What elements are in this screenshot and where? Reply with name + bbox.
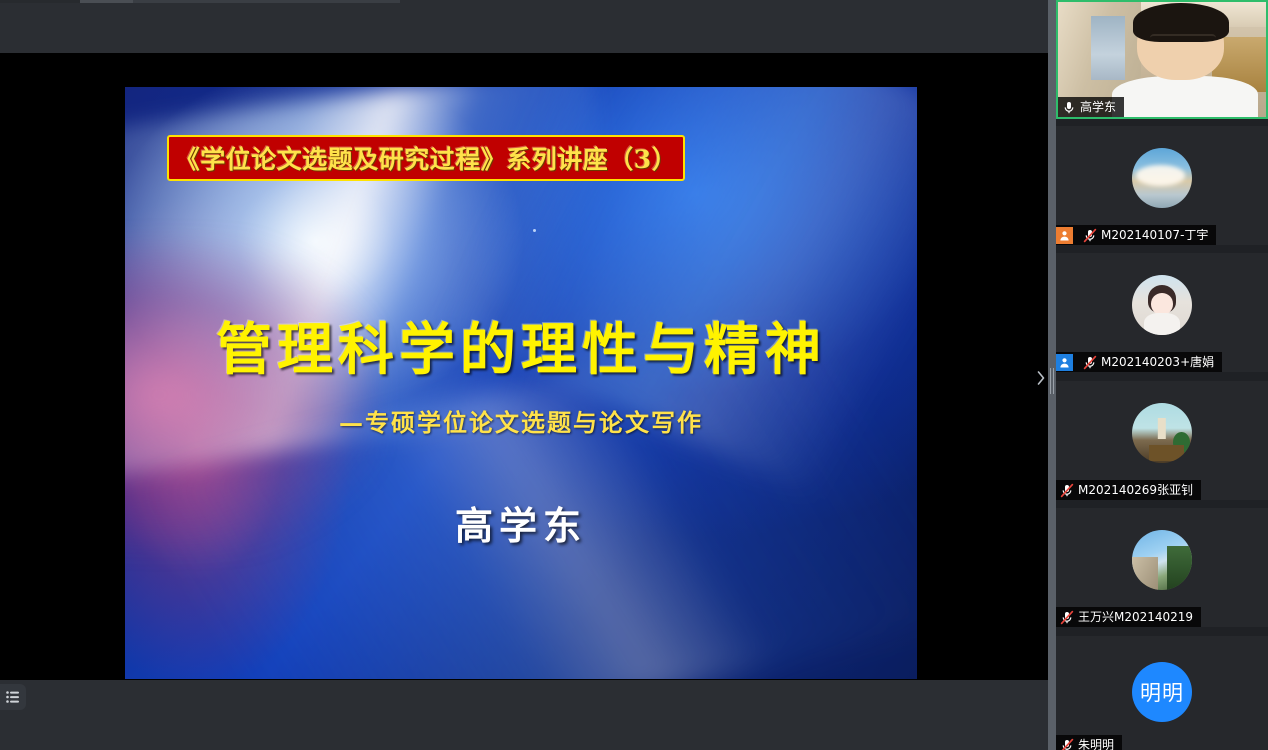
- microphone-on-icon: [1062, 100, 1076, 115]
- participant-name-0: 高学东: [1080, 97, 1116, 117]
- top-strip-segment-right: [133, 0, 400, 3]
- slide-dot: [533, 229, 536, 232]
- presentation-slide: 《学位论文选题及研究过程》系列讲座（3） 管理科学的理性与精神 —专硕学位论文选…: [125, 87, 917, 679]
- participant-tile-5[interactable]: 明明 朱明明: [1056, 636, 1268, 750]
- participant-namebar-0: 高学东: [1058, 97, 1124, 117]
- microphone-muted-icon: [1083, 228, 1097, 243]
- slide-subtitle: —专硕学位论文选题与论文写作: [125, 403, 917, 438]
- participant-namebar-3: M202140269张亚钊: [1056, 480, 1201, 500]
- participant-avatar-3: [1132, 403, 1192, 463]
- participant-name-2: M202140203+唐娟: [1101, 352, 1214, 372]
- resize-grip-icon: [1050, 368, 1054, 394]
- participant-avatar-2: [1132, 275, 1192, 335]
- list-view-button[interactable]: [0, 684, 26, 710]
- participant-namebar-2: M202140203+唐娟: [1056, 352, 1222, 372]
- chevron-right-icon: [1037, 371, 1045, 390]
- participant-namebar-5: 朱明明: [1056, 735, 1122, 750]
- participant-tile-4[interactable]: 王万兴M202140219: [1056, 508, 1268, 627]
- participant-tile-3[interactable]: M202140269张亚钊: [1056, 381, 1268, 500]
- slide-main-title: 管理科学的理性与精神: [125, 305, 917, 386]
- host-badge-icon: [1056, 227, 1073, 244]
- participant-initials-5: 明明: [1132, 662, 1192, 722]
- participant-namebar-4: 王万兴M202140219: [1056, 607, 1201, 627]
- slide-speaker-name: 高学东: [125, 495, 917, 550]
- collapse-panel-button[interactable]: [1034, 371, 1048, 389]
- panel-resize-handle[interactable]: [1048, 0, 1056, 750]
- microphone-muted-icon: [1060, 610, 1074, 625]
- top-strip-segment-left: [0, 0, 80, 3]
- participant-namebar-1: M202140107-丁宇: [1056, 225, 1216, 245]
- participant-tile-2[interactable]: M202140203+唐娟: [1056, 253, 1268, 372]
- participant-tile-0[interactable]: 高学东: [1056, 0, 1268, 119]
- participant-filmstrip[interactable]: 高学东: [1056, 0, 1268, 750]
- participant-avatar-5: 明明: [1132, 662, 1192, 722]
- participant-tile-1[interactable]: M202140107-丁宇: [1056, 126, 1268, 245]
- participant-name-5: 朱明明: [1078, 735, 1114, 750]
- slide-series-banner: 《学位论文选题及研究过程》系列讲座（3）: [167, 135, 685, 181]
- meeting-window: 《学位论文选题及研究过程》系列讲座（3） 管理科学的理性与精神 —专硕学位论文选…: [0, 0, 1268, 750]
- participant-name-1: M202140107-丁宇: [1101, 225, 1208, 245]
- cohost-badge-icon: [1056, 354, 1073, 371]
- list-icon: [6, 691, 20, 703]
- microphone-muted-icon: [1060, 483, 1074, 498]
- top-strip-segment-highlight: [80, 0, 133, 3]
- participant-avatar-4: [1132, 530, 1192, 590]
- slide-series-banner-text: 《学位论文选题及研究过程》系列讲座（3）: [175, 140, 677, 176]
- participant-name-4: 王万兴M202140219: [1078, 607, 1193, 627]
- shared-screen-stage[interactable]: 《学位论文选题及研究过程》系列讲座（3） 管理科学的理性与精神 —专硕学位论文选…: [0, 4, 1048, 750]
- participant-avatar-1: [1132, 148, 1192, 208]
- microphone-muted-icon: [1083, 355, 1097, 370]
- participant-name-3: M202140269张亚钊: [1078, 480, 1193, 500]
- microphone-muted-icon: [1060, 738, 1074, 750]
